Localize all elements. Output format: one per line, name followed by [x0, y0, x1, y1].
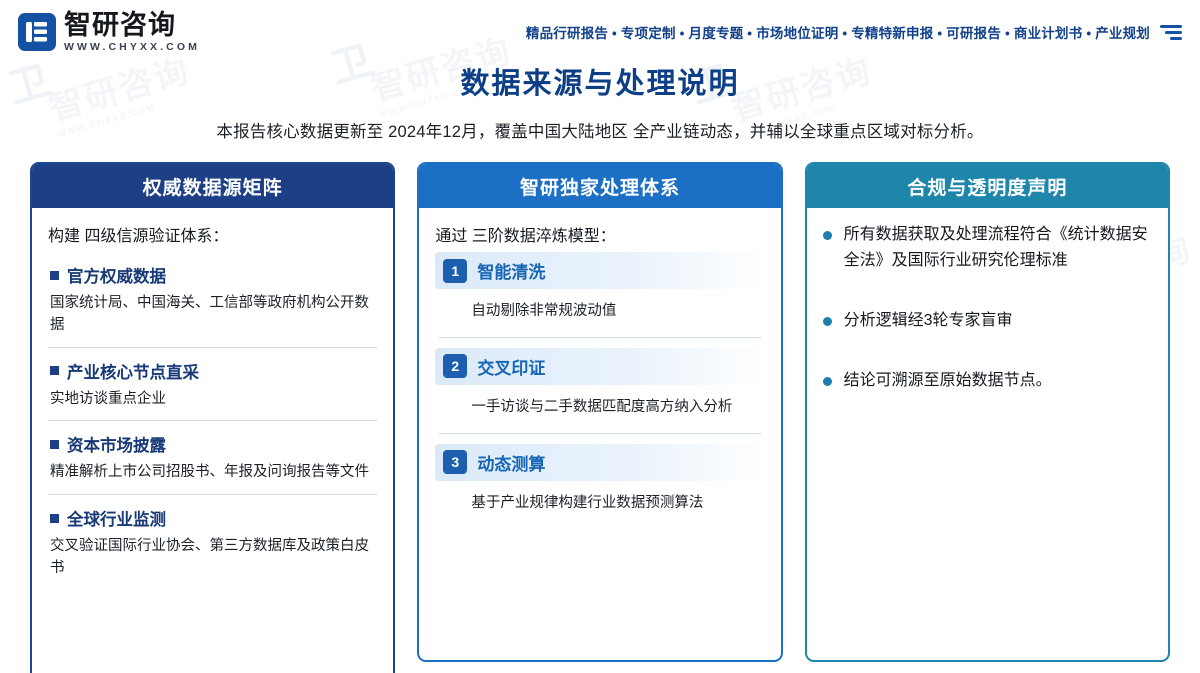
bullet-text: 所有数据获取及处理流程符合《统计数据安全法》及国际行业研究伦理标准: [844, 222, 1152, 274]
card-body-data-sources: 构建 四级信源验证体系： 官方权威数据 国家统计局、中国海关、工信部等政府机构公…: [32, 208, 393, 600]
source-name: 官方权威数据: [67, 263, 166, 287]
content-columns: 权威数据源矩阵 构建 四级信源验证体系： 官方权威数据 国家统计局、中国海关、工…: [0, 162, 1200, 673]
list-item[interactable]: 产业核心节点直采 实地访谈重点企业: [48, 348, 377, 422]
card-lead-processing-system: 通过 三阶数据淬炼模型：: [435, 222, 764, 246]
step-title: 智能清洗: [477, 258, 545, 283]
bullet-text: 结论可溯源至原始数据节点。: [844, 368, 1052, 394]
page-title: 数据来源与处理说明: [0, 60, 1200, 102]
card-processing-system: 智研独家处理体系 通过 三阶数据淬炼模型： 1 智能清洗 自动剔除非常规波动值 …: [417, 162, 782, 662]
brand-name: 智研咨询: [64, 12, 200, 39]
list-item[interactable]: 3 动态测算 基于产业规律构建行业数据预测算法: [435, 444, 764, 525]
step-title: 动态测算: [477, 450, 545, 475]
card-body-compliance-statement: 所有数据获取及处理流程符合《统计数据安全法》及国际行业研究伦理标准 分析逻辑经3…: [807, 208, 1168, 438]
source-name: 资本市场披露: [67, 432, 166, 456]
step-header: 3 动态测算: [435, 444, 764, 481]
divider: [439, 337, 760, 338]
square-bullet-icon: [50, 366, 59, 375]
step-desc: 基于产业规律构建行业数据预测算法: [435, 481, 764, 525]
card-title-data-sources: 权威数据源矩阵: [32, 164, 393, 208]
page-root: 卫 智研咨询WWW.CHYXX.COM 卫 智研咨询WWW.CHYXX.COM …: [0, 0, 1200, 673]
list-item[interactable]: 2 交叉印证 一手访谈与二手数据匹配度高方纳入分析: [435, 348, 764, 429]
step-number-badge: 1: [443, 259, 467, 283]
source-desc: 精准解析上市公司招股书、年报及问询报告等文件: [50, 462, 375, 484]
title-block: 数据来源与处理说明 本报告核心数据更新至 2024年12月，覆盖中国大陆地区 全…: [0, 60, 1200, 142]
source-title: 全球行业监测: [50, 506, 375, 530]
step-title: 交叉印证: [477, 354, 545, 379]
square-bullet-icon: [50, 271, 59, 280]
list-item[interactable]: 1 智能清洗 自动剔除非常规波动值: [435, 252, 764, 333]
page-header: 智研咨询 WWW.CHYXX.COM 精品行研报告 • 专项定制 • 月度专题 …: [0, 0, 1200, 56]
source-name: 产业核心节点直采: [67, 359, 199, 383]
dot-bullet-icon: [823, 317, 832, 326]
card-title-processing-system: 智研独家处理体系: [419, 164, 780, 208]
list-item[interactable]: 全球行业监测 交叉验证国际行业协会、第三方数据库及政策白皮书: [48, 495, 377, 590]
source-name: 全球行业监测: [67, 506, 166, 530]
bullet-text: 分析逻辑经3轮专家盲审: [844, 308, 1013, 334]
step-number-badge: 2: [443, 354, 467, 378]
divider: [439, 433, 760, 434]
source-desc: 实地访谈重点企业: [50, 389, 375, 411]
step-header: 1 智能清洗: [435, 252, 764, 289]
card-lead-data-sources: 构建 四级信源验证体系：: [48, 222, 377, 246]
dot-bullet-icon: [823, 377, 832, 386]
source-title: 官方权威数据: [50, 263, 375, 287]
list-item[interactable]: 官方权威数据 国家统计局、中国海关、工信部等政府机构公开数据: [48, 252, 377, 348]
list-item: 分析逻辑经3轮专家盲审: [823, 308, 1152, 334]
card-body-processing-system: 通过 三阶数据淬炼模型： 1 智能清洗 自动剔除非常规波动值 2 交叉印证 一手…: [419, 208, 780, 538]
square-bullet-icon: [50, 514, 59, 523]
list-item[interactable]: 资本市场披露 精准解析上市公司招股书、年报及问询报告等文件: [48, 421, 377, 495]
source-title: 资本市场披露: [50, 432, 375, 456]
brand-logo[interactable]: 智研咨询 WWW.CHYXX.COM: [18, 12, 200, 53]
source-title: 产业核心节点直采: [50, 359, 375, 383]
step-header: 2 交叉印证: [435, 348, 764, 385]
brand-website: WWW.CHYXX.COM: [64, 42, 200, 53]
step-number-badge: 3: [443, 450, 467, 474]
source-desc: 国家统计局、中国海关、工信部等政府机构公开数据: [50, 293, 375, 337]
dot-bullet-icon: [823, 231, 832, 240]
card-title-compliance-statement: 合规与透明度声明: [807, 164, 1168, 208]
step-desc: 一手访谈与二手数据匹配度高方纳入分析: [435, 385, 764, 429]
step-desc: 自动剔除非常规波动值: [435, 289, 764, 333]
logo-icon: [18, 13, 56, 51]
square-bullet-icon: [50, 440, 59, 449]
card-compliance-statement: 合规与透明度声明 所有数据获取及处理流程符合《统计数据安全法》及国际行业研究伦理…: [805, 162, 1170, 662]
list-item: 所有数据获取及处理流程符合《统计数据安全法》及国际行业研究伦理标准: [823, 222, 1152, 274]
menu-bars-icon: [1160, 25, 1182, 40]
card-data-sources: 权威数据源矩阵 构建 四级信源验证体系： 官方权威数据 国家统计局、中国海关、工…: [30, 162, 395, 673]
page-subtitle: 本报告核心数据更新至 2024年12月，覆盖中国大陆地区 全产业链动态，并辅以全…: [0, 118, 1200, 142]
header-right: 精品行研报告 • 专项定制 • 月度专题 • 市场地位证明 • 专精特新申报 •…: [526, 22, 1182, 42]
header-tagline: 精品行研报告 • 专项定制 • 月度专题 • 市场地位证明 • 专精特新申报 •…: [526, 22, 1150, 42]
list-item: 结论可溯源至原始数据节点。: [823, 368, 1152, 394]
source-desc: 交叉验证国际行业协会、第三方数据库及政策白皮书: [50, 536, 375, 580]
